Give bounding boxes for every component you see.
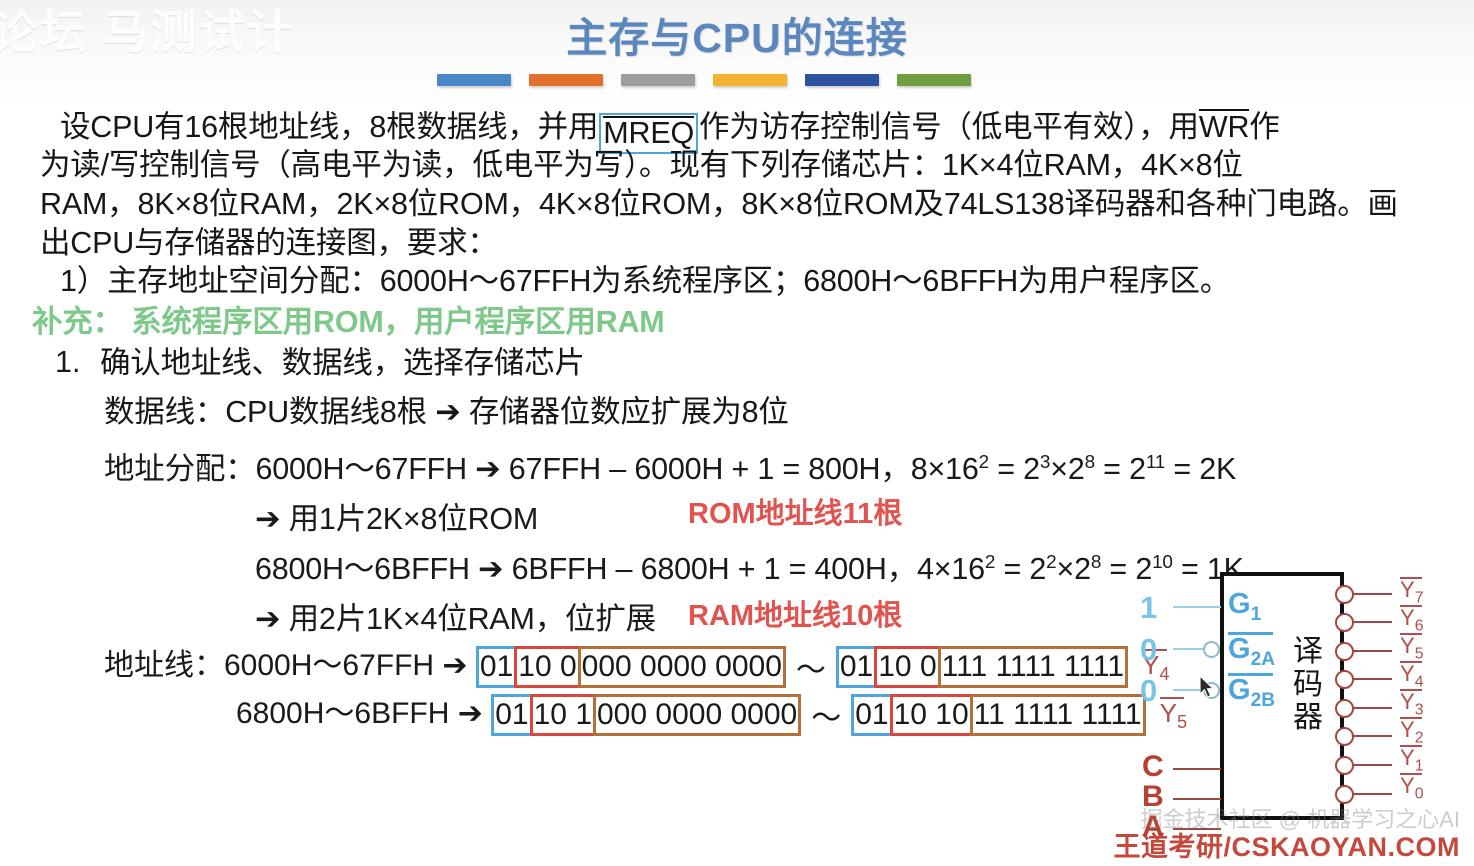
decoder-g2a-wire [1173,648,1203,650]
rom-expr-c: ×2 [1050,452,1084,486]
row-1-separator: ～ [801,693,851,737]
mreq-overline-text: MREQ [603,115,694,150]
decoder-g2a-bubble [1203,641,1220,658]
decoder-output-0-sub: 0 [1415,785,1424,802]
row-0-start-brown: 000 0000 0000 [578,646,786,688]
title-accent-bars [437,74,971,86]
row-1-start-brown: 000 0000 0000 [593,694,801,736]
row-0-range: 6000H～67FFH ➔ [224,649,468,682]
row-0-end-red: 10 0 [874,646,940,688]
row-1-start-blue: 01 [491,694,532,736]
data-bus-text: CPU数据线8根 ➔ 存储器位数应扩展为8位 [225,395,788,429]
accent-bar-4 [713,74,787,86]
decoder-input-b-wire [1173,798,1221,800]
decoder-output-wire-6 [1352,621,1392,623]
decoder-pin-g2a-name: G [1228,633,1251,665]
decoder-output-6-sub: 6 [1415,617,1424,634]
decoder-output-label-3: Y3 [1400,689,1424,718]
accent-bar-3 [621,74,695,86]
ram-expr-b: = 2 [995,552,1046,586]
decoder-output-wire-0 [1352,793,1392,795]
row-0-end-brown: 111 1111 1111 [938,646,1128,688]
decoder-output-2-name: Y [1400,717,1415,742]
ram-expr-a: 4×16 [917,552,985,586]
decoder-input-c: C [1142,750,1164,784]
decoder-g1-value: 1 [1140,590,1157,626]
row-1-range: 6800H～6BFFH ➔ [236,697,483,730]
rom-expr-d-sup: 11 [1146,452,1165,473]
address-line-row-0: 地址线：6000H～67FFH ➔ 0110 0000 0000 0000～01… [104,640,1170,689]
slide-canvas: 论坛 马测试计 主存与CPU的连接 设CPU有16根地址线，8根数据线，并用MR… [0,0,1474,866]
decoder-output-label-4: Y4 [1400,661,1424,690]
decoder-pin-g2a-sub: 2A [1251,649,1275,670]
decoder-output-wire-4 [1352,678,1392,680]
decoder-output-label-6: Y6 [1400,605,1424,634]
rom-expr-c-sup: 8 [1085,452,1095,473]
accent-bar-1 [437,74,511,86]
address-line-row-1: 6800H～6BFFH ➔ 0110 1000 0000 0000～0110 1… [236,688,1187,737]
row-0-end-blue: 01 [836,646,877,688]
decoder-output-7-name: Y [1400,577,1415,602]
ram-address-note: RAM地址线10根 [688,592,902,634]
decoder-pin-g1-name: G [1228,588,1251,620]
rom-expr-a-sup: 2 [979,452,989,473]
rom-expr-a: 8×16 [911,452,979,486]
decoder-output-label-0: Y0 [1400,773,1424,802]
decoder-output-wire-5 [1352,650,1392,652]
decoder-pin-g2b-overline: G2B [1228,673,1275,710]
decoder-pin-g1: G1 [1228,590,1261,624]
decoder-output-3-sub: 3 [1415,701,1424,718]
row-1-end-red: 10 10 [890,694,973,736]
decoder-pin-g2a-overline: G2A [1228,632,1275,669]
decoder-output-5-name: Y [1400,633,1415,658]
decoder-output-1-name: Y [1400,745,1415,770]
step-1-heading: 确认地址线、数据线，选择存储芯片 [100,345,585,382]
row-0-start-blue: 01 [476,646,517,688]
decoder-output-wire-1 [1352,764,1392,766]
page-title: 主存与CPU的连接 [0,4,1474,64]
ram-expr-b-sup: 2 [1046,552,1056,573]
supplement-line: 补充： 系统程序区用ROM，用户程序区用RAM [32,304,665,341]
row-0-start-red: 10 0 [514,646,580,688]
ram-conclusion: ➔ 用2片1K×4位RAM，位扩展 [255,594,656,638]
wr-overline-text: WR [1199,108,1249,146]
mouse-cursor-icon [1200,676,1216,700]
accent-bar-5 [805,74,879,86]
rom-address-calc: 地址分配：6000H～67FFH ➔ 67FFH – 6000H + 1 = 8… [104,444,1236,488]
problem-line-2: 为读/写控制信号（高电平为读，低电平为写）。现有下列存储芯片：1K×4位RAM，… [40,147,1243,184]
decoder-g2b-value: 0 [1140,673,1157,709]
addr-alloc-label: 地址分配： [104,452,256,486]
rom-range: 6000H～67FFH ➔ 67FFH – 6000H + 1 = 800H， [256,452,911,486]
decoder-output-label-7: Y7 [1400,577,1424,606]
supplement-label: 补充： [32,305,123,339]
problem-line-3: RAM，8K×8位RAM，2K×8位ROM，4K×8位ROM，8K×8位ROM及… [40,186,1398,223]
problem-line-1-part-b: 作为访存控制信号（低电平有效），用 [699,110,1199,144]
decoder-pin-g2a: G2A [1228,632,1275,669]
problem-line-1-part-c: 作 [1249,110,1279,144]
decoder-output-0-name: Y [1400,773,1415,798]
supplement-text: 系统程序区用ROM，用户程序区用RAM [131,305,664,339]
decoder-pin-g1-sub: 1 [1251,604,1262,625]
rom-address-note: ROM地址线11根 [688,490,902,532]
accent-bar-6 [897,74,971,86]
decoder-output-4-name: Y [1400,661,1415,686]
problem-line-4: 出CPU与存储器的连接图，要求： [40,225,498,262]
row-0-separator: ～ [786,645,836,689]
watermark-bottom-brand: 王道考研/CSKAOYAN.COM [1113,825,1460,864]
data-bus-label: 数据线： [104,395,225,429]
decoder-output-label-5: Y5 [1400,633,1424,662]
ram-expr-c: ×2 [1056,552,1090,586]
decoder-output-label-1: Y1 [1400,745,1424,774]
ram-expr-a-sup: 2 [985,552,995,573]
ram-expr-c-sup: 8 [1091,552,1101,573]
problem-line-1-part-a: 设CPU有16根地址线，8根数据线，并用 [60,110,598,144]
rom-expr-e: = 2K [1165,452,1236,486]
decoder-g1-wire [1173,606,1221,608]
rom-conclusion: ➔ 用1片2K×8位ROM [255,494,538,538]
rom-expr-b-sup: 3 [1040,452,1050,473]
decoder-output-3-name: Y [1400,689,1415,714]
problem-line-5: 1）主存地址空间分配：6000H～67FFH为系统程序区；6800H～6BFFH… [60,263,1230,300]
decoder-pin-g2b: G2B [1228,673,1275,710]
decoder-output-4-sub: 4 [1415,673,1424,690]
ram-range: 6800H～6BFFH ➔ 6BFFH – 6800H + 1 = 400H， [255,552,917,586]
decoder-output-label-2: Y2 [1400,717,1424,746]
decoder-output-7-sub: 7 [1415,589,1424,606]
decoder-output-wire-3 [1352,707,1392,709]
decoder-g2a-value: 0 [1140,632,1157,668]
row-1-end-brown: 11 1111 1111 [970,694,1146,736]
address-lines-label: 地址线： [104,649,224,682]
row-1-end-blue: 01 [851,694,892,736]
data-bus-line: 数据线：CPU数据线8根 ➔ 存储器位数应扩展为8位 [104,394,789,431]
accent-bar-2 [529,74,603,86]
decoder-output-wire-2 [1352,735,1392,737]
decoder-title: 译码器 [1280,635,1336,734]
decoder-output-1-sub: 1 [1415,757,1424,774]
rom-expr-d: = 2 [1095,452,1146,486]
decoder-output-wire-7 [1352,593,1392,595]
rom-expr-b: = 2 [989,452,1040,486]
decoder-pin-g2b-sub: 2B [1251,690,1275,711]
decoder-pin-g2b-name: G [1228,674,1251,706]
decoder-input-c-wire [1173,768,1221,770]
ram-address-calc: 6800H～6BFFH ➔ 6BFFH – 6800H + 1 = 400H，4… [255,544,1244,588]
decoder-output-5-sub: 5 [1415,645,1424,662]
row-1-start-red: 10 1 [530,694,596,736]
decoder-output-2-sub: 2 [1415,729,1424,746]
decoder-output-6-name: Y [1400,605,1415,630]
step-1-index: 1. [55,345,80,380]
decoder-g2b-wire [1173,689,1203,691]
